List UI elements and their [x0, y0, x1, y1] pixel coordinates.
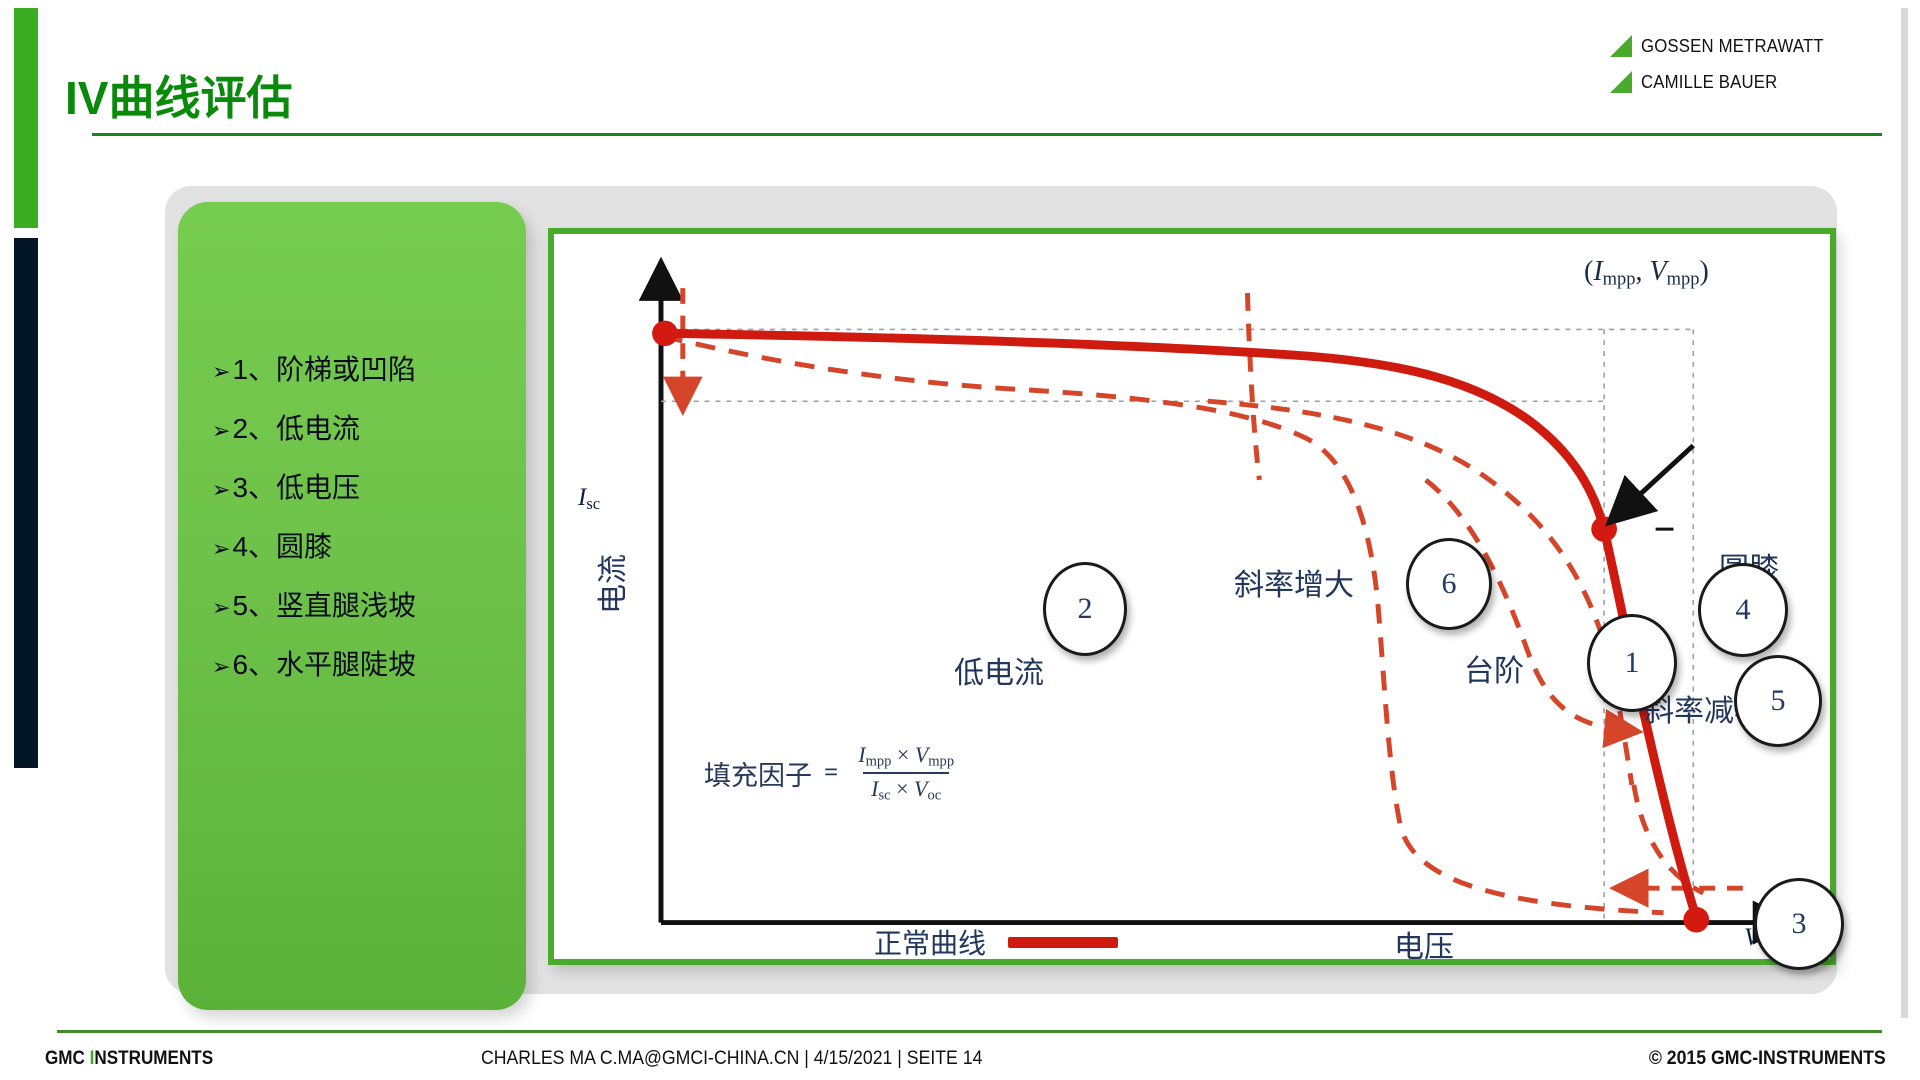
bullet-arrow-icon: ➢ [212, 594, 230, 622]
company-logo: GOSSEN METRAWATT CAMILLE BAUER [1608, 28, 1858, 100]
list-item-label: 6、水平腿陡坡 [232, 647, 416, 682]
callout-6[interactable]: 6 [1406, 538, 1492, 630]
callout-2[interactable]: 2 [1043, 562, 1127, 656]
bullet-arrow-icon: ➢ [212, 535, 230, 563]
list-item-label: 3、低电压 [232, 470, 360, 505]
normal-curve-solid [665, 333, 1695, 914]
isc-point [652, 321, 678, 347]
list-item[interactable]: ➢ 4、圆膝 [212, 529, 516, 564]
iv-curve-plot [554, 234, 1830, 959]
mpp-point [1591, 516, 1617, 542]
list-item[interactable]: ➢ 6、水平腿陡坡 [212, 647, 516, 682]
x-axis-title: 电压 [1394, 922, 1454, 966]
bullet-arrow-icon: ➢ [212, 476, 230, 504]
footer-copyright: © 2015 GMC-INSTRUMENTS [1649, 1048, 1886, 1070]
footer-brand: GMC INSTRUMENTS [45, 1048, 213, 1070]
list-item[interactable]: ➢ 1、阶梯或凹陷 [212, 352, 516, 387]
green-triangle-icon [1608, 33, 1634, 59]
formula-denominator: Isc × Voc [863, 772, 949, 804]
voc-point [1683, 907, 1709, 933]
y-axis-title: 电流 [588, 554, 632, 614]
construction-lines [661, 329, 1693, 922]
annotation-step: 台阶 [1464, 646, 1524, 690]
bullet-arrow-icon: ➢ [212, 653, 230, 681]
green-triangle-icon [1608, 69, 1634, 95]
logo-label-camille: CAMILLE BAUER [1641, 72, 1777, 93]
logo-label-gossen: GOSSEN METRAWATT [1641, 36, 1824, 57]
bullet-arrow-icon: ➢ [212, 358, 230, 386]
isc-label: Isc [578, 484, 600, 514]
fault-branch-vertical [1247, 293, 1259, 480]
fault-list: ➢ 1、阶梯或凹陷 ➢ 2、低电流 ➢ 3、低电压 ➢ 4、圆膝 ➢ 5、竖直腿… [212, 352, 516, 706]
legend-swatch-normal-curve [1008, 937, 1118, 948]
list-item-label: 2、低电流 [232, 411, 360, 446]
list-item[interactable]: ➢ 5、竖直腿浅坡 [212, 588, 516, 623]
mpp-pointer-arrow [1616, 445, 1693, 516]
footer-brand-suffix: NSTRUMENTS [94, 1048, 213, 1069]
list-item[interactable]: ➢ 3、低电压 [212, 470, 516, 505]
fault-list-panel: ➢ 1、阶梯或凹陷 ➢ 2、低电流 ➢ 3、低电压 ➢ 4、圆膝 ➢ 5、竖直腿… [178, 202, 526, 1010]
annotation-low-current: 低电流 [954, 648, 1044, 692]
logo-row-camille: CAMILLE BAUER [1608, 64, 1858, 100]
fill-factor-formula: 填充因子 = Impp × Vmpp Isc × Voc [704, 742, 962, 805]
accent-bar-green [14, 8, 38, 228]
callout-3[interactable]: 3 [1754, 878, 1844, 970]
logo-row-gossen: GOSSEN METRAWATT [1608, 28, 1858, 64]
annotation-slope-increase: 斜率增大 [1234, 560, 1354, 604]
list-item-label: 4、圆膝 [232, 529, 332, 564]
accent-bar-dark [14, 238, 38, 768]
footer-meta: CHARLES MA C.MA@GMCI-CHINA.CN | 4/15/202… [481, 1048, 982, 1070]
formula-numerator: Impp × Vmpp [850, 742, 962, 772]
fault-curve-dashed [663, 336, 1664, 912]
footer-divider [57, 1030, 1882, 1033]
legend-label-normal-curve: 正常曲线 [874, 922, 986, 962]
mpp-label: (Impp, Vmpp) [1584, 256, 1709, 290]
chart-legend: 正常曲线 [874, 922, 1118, 962]
footer-brand-prefix: GMC [45, 1048, 90, 1069]
callout-4[interactable]: 4 [1698, 563, 1788, 657]
formula-equals: = [824, 759, 838, 787]
formula-name: 填充因子 [704, 754, 812, 793]
callout-1[interactable]: 1 [1587, 614, 1677, 712]
page-title: IV曲线评估 [65, 62, 292, 128]
iv-curve-chart: Isc Voc (Impp, Vmpp) 斜率增大 低电流 台阶 圆膝 斜率减小… [548, 228, 1836, 965]
list-item-label: 5、竖直腿浅坡 [232, 588, 416, 623]
formula-fraction: Impp × Vmpp Isc × Voc [850, 742, 962, 805]
list-item-label: 1、阶梯或凹陷 [232, 352, 416, 387]
bullet-arrow-icon: ➢ [212, 417, 230, 445]
title-underline [92, 133, 1882, 136]
list-item[interactable]: ➢ 2、低电流 [212, 411, 516, 446]
callout-5[interactable]: 5 [1734, 655, 1822, 747]
right-edge-strip [1901, 8, 1908, 1018]
